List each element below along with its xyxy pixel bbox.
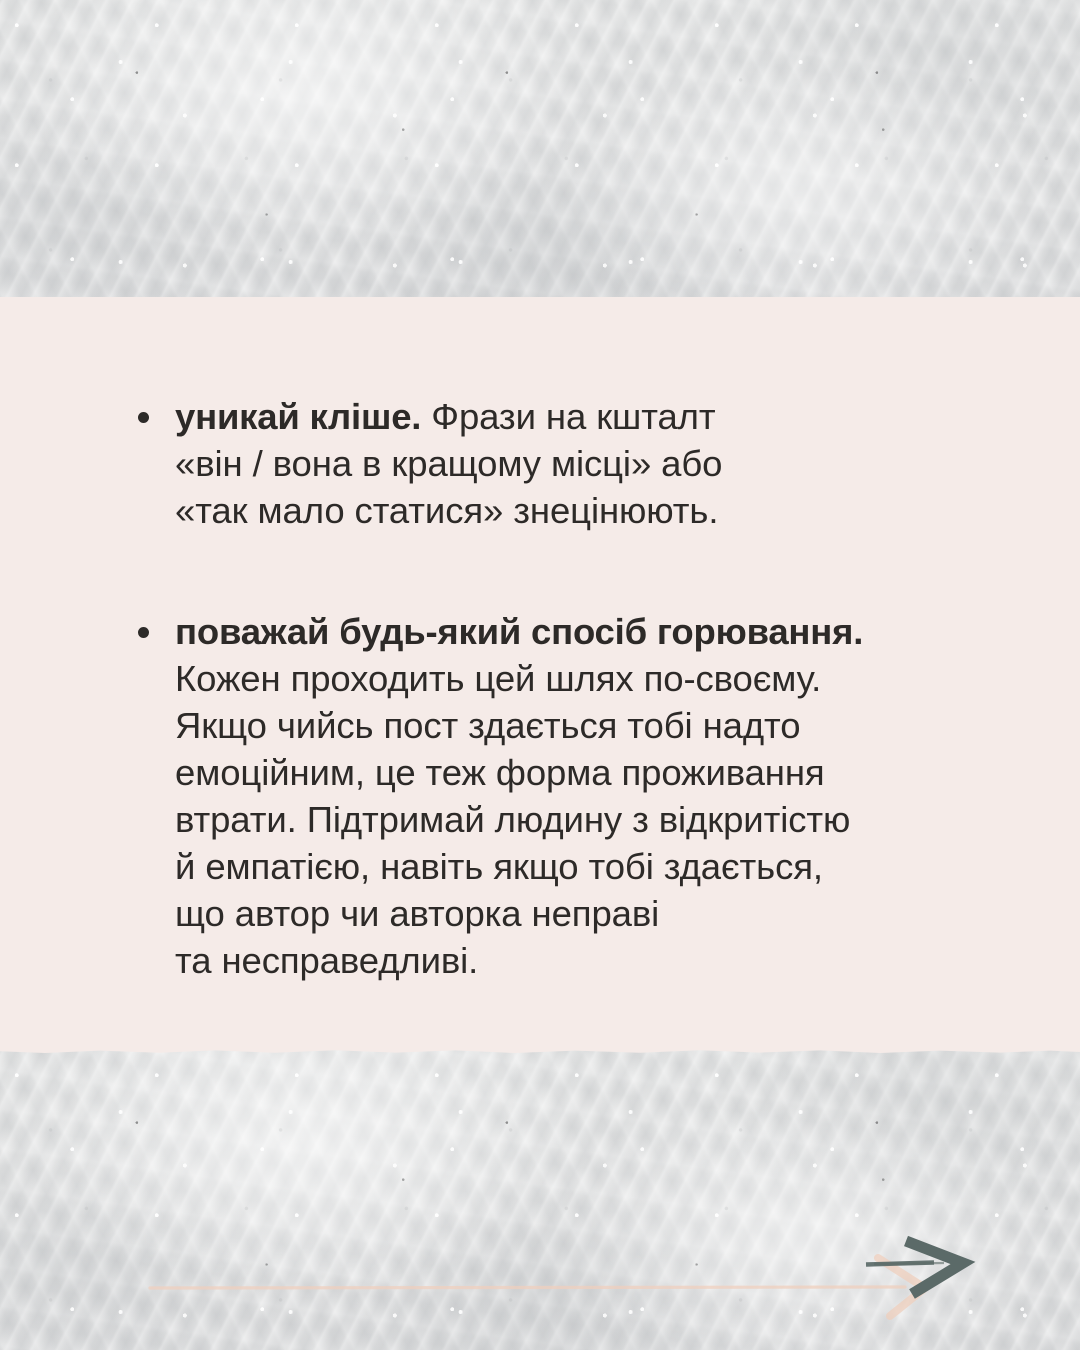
bullet-text: уникай кліше. Фрази на кшталт «він / вон…	[175, 393, 1018, 534]
list-item: поважай будь-який спосіб горювання. Коже…	[138, 608, 1018, 984]
bullet-body: Кожен проходить цей шлях по-своєму. Якщо…	[175, 658, 850, 981]
paper-texture-bottom	[0, 1050, 1080, 1350]
bullet-list: уникай кліше. Фрази на кшталт «він / вон…	[138, 393, 1018, 984]
bullet-lead: уникай кліше.	[175, 396, 421, 437]
paper-texture-top	[0, 0, 1080, 300]
list-item: уникай кліше. Фрази на кшталт «він / вон…	[138, 393, 1018, 534]
bullet-dot-icon	[138, 627, 149, 638]
bullet-dot-icon	[138, 412, 149, 423]
bullet-text: поважай будь-який спосіб горювання. Коже…	[175, 608, 1018, 984]
slide-canvas: уникай кліше. Фрази на кшталт «він / вон…	[0, 0, 1080, 1350]
bullet-lead: поважай будь-який спосіб горювання.	[175, 611, 863, 652]
content-panel: уникай кліше. Фрази на кшталт «він / вон…	[0, 297, 1080, 1053]
